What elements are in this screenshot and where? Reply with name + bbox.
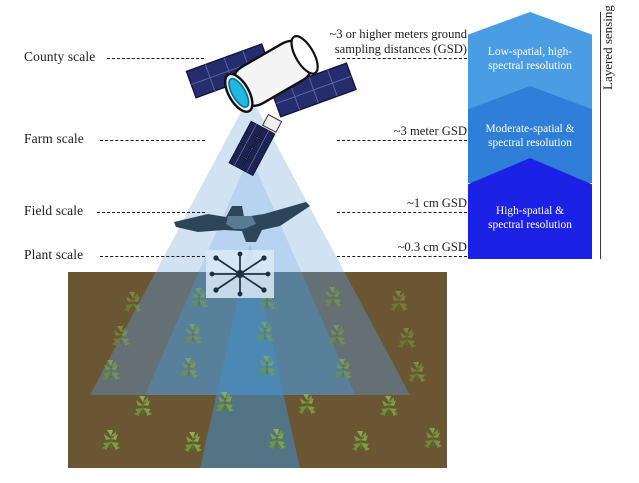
drone-icon [206, 250, 274, 298]
gsd-label-county-line2: sampling distances (GSD) [307, 42, 467, 57]
leader-line-farm-right [337, 140, 467, 141]
leader-line-plant-right [337, 256, 467, 257]
leader-line-plant [100, 256, 205, 257]
legend-tier-high-line2: spectral resolution [468, 218, 592, 232]
leader-line-farm [100, 140, 205, 141]
cubesat-icon [222, 112, 302, 192]
legend-tier-moderate-line1: Moderate-spatial & [468, 122, 592, 136]
legend-tier-moderate-line2: spectral resolution [468, 136, 592, 150]
aircraft-icon [168, 200, 316, 248]
gsd-label-county-line1: ~3 or higher meters ground [307, 27, 467, 42]
legend-tier-low-line2: spectral resolution [468, 59, 592, 73]
gsd-label-plant: ~0.3 cm GSD [307, 240, 467, 255]
scale-label-farm: Farm scale [24, 131, 84, 147]
legend-tier-high-line1: High-spatial & [468, 204, 592, 218]
layered-sensing-label: Layered sensing [600, 0, 616, 96]
leader-line-field [97, 212, 205, 213]
resolution-legend: Low-spatial, high- spectral resolution M… [468, 12, 592, 259]
diagram-canvas: County scale Farm scale Field scale Plan… [0, 0, 639, 483]
scale-label-county: County scale [24, 49, 95, 65]
crop-plants [68, 272, 447, 468]
gsd-label-farm: ~3 meter GSD [307, 124, 467, 139]
leader-line-field-right [337, 212, 467, 213]
gsd-label-field: ~1 cm GSD [307, 196, 467, 211]
leader-line-county-right [337, 58, 467, 59]
leader-line-county [107, 58, 204, 59]
legend-tier-low-line1: Low-spatial, high- [468, 45, 592, 59]
scale-label-plant: Plant scale [24, 247, 83, 263]
scale-label-field: Field scale [24, 203, 83, 219]
